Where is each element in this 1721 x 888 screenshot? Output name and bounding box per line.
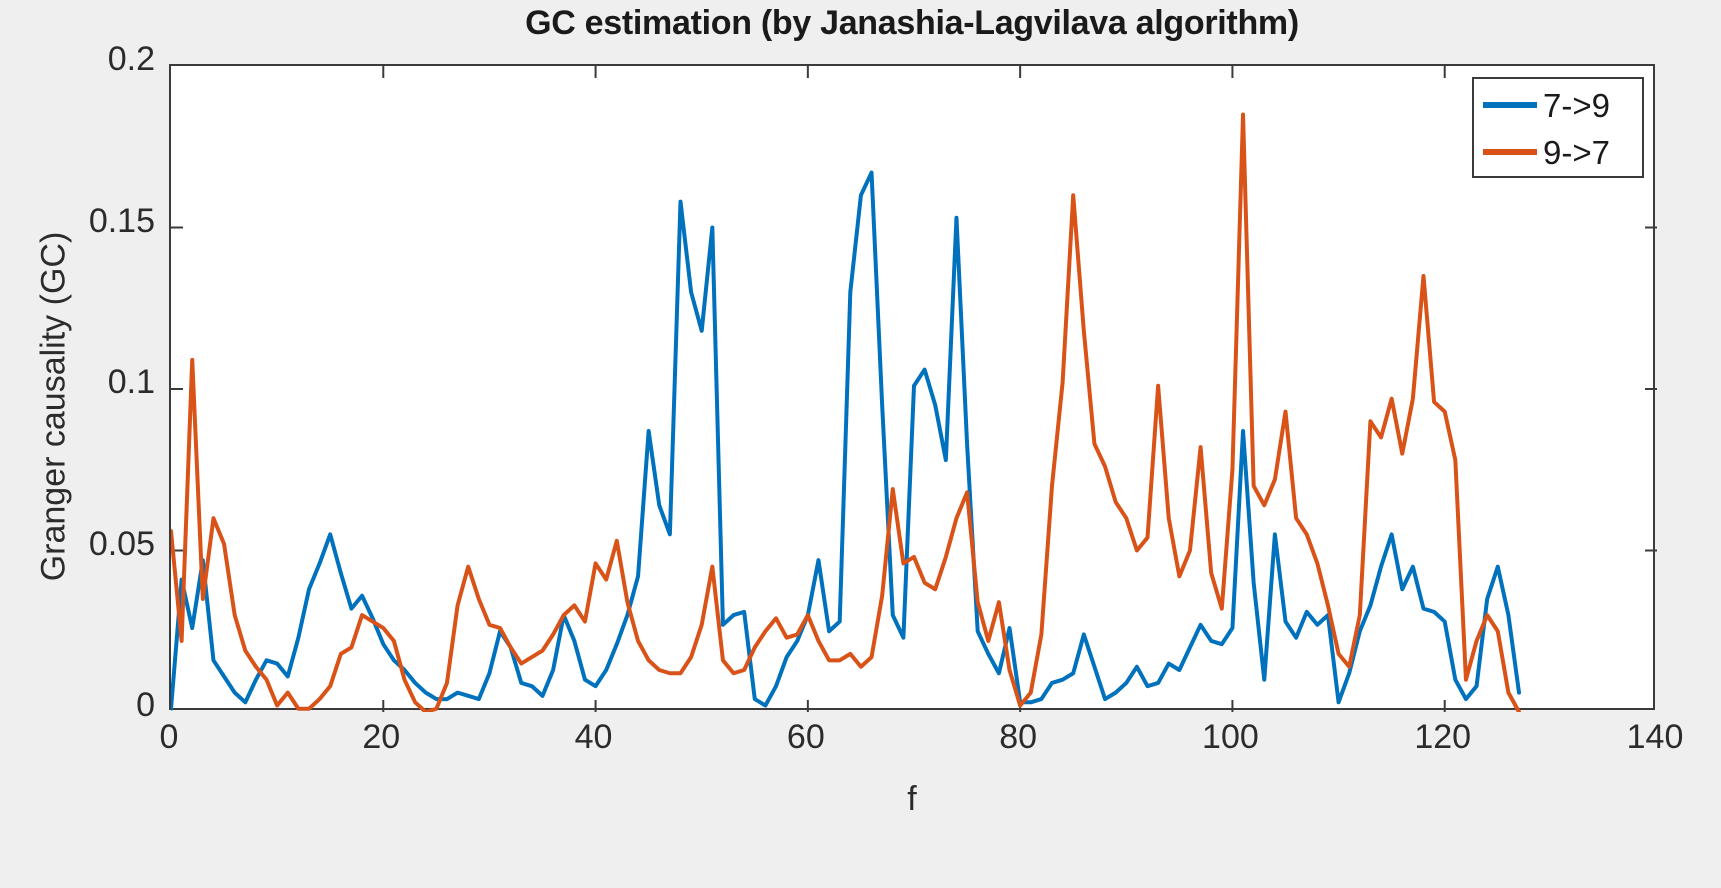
- chart-canvas: [171, 66, 1657, 712]
- y-axis-label: Granger causality (GC): [35, 84, 74, 730]
- x-tick-label-120: 120: [1414, 718, 1471, 757]
- legend-label-7-to-9: 7->9: [1543, 89, 1610, 122]
- x-tick-label-100: 100: [1202, 718, 1259, 757]
- legend-entry-7-to-9[interactable]: 7->9: [1474, 81, 1642, 129]
- y-tick-label-0.1: 0.1: [108, 363, 155, 402]
- x-tick-label-40: 40: [575, 718, 613, 757]
- x-axis-tick-labels: 020406080100120140: [0, 718, 1721, 768]
- x-tick-label-80: 80: [999, 718, 1037, 757]
- plot-area: [169, 64, 1655, 710]
- chart-title: GC estimation (by Janashia-Lagvilava alg…: [169, 4, 1655, 43]
- y-tick-label-0.05: 0.05: [89, 525, 155, 564]
- y-tick-label-0.15: 0.15: [89, 202, 155, 241]
- x-tick-label-60: 60: [787, 718, 825, 757]
- x-tick-label-140: 140: [1627, 718, 1684, 757]
- series-line-7-to-9: [171, 173, 1519, 709]
- legend-swatch-9-to-7: [1483, 149, 1537, 155]
- y-tick-label-0.2: 0.2: [108, 40, 155, 79]
- legend-entry-9-to-7[interactable]: 9->7: [1474, 128, 1642, 176]
- matlab-figure: GC estimation (by Janashia-Lagvilava alg…: [0, 0, 1721, 888]
- x-tick-label-20: 20: [362, 718, 400, 757]
- x-axis-label: f: [169, 780, 1655, 819]
- chart-legend[interactable]: 7->9 9->7: [1472, 77, 1644, 178]
- legend-swatch-7-to-9: [1483, 102, 1537, 108]
- legend-label-9-to-7: 9->7: [1543, 136, 1610, 169]
- x-tick-label-0: 0: [160, 718, 179, 757]
